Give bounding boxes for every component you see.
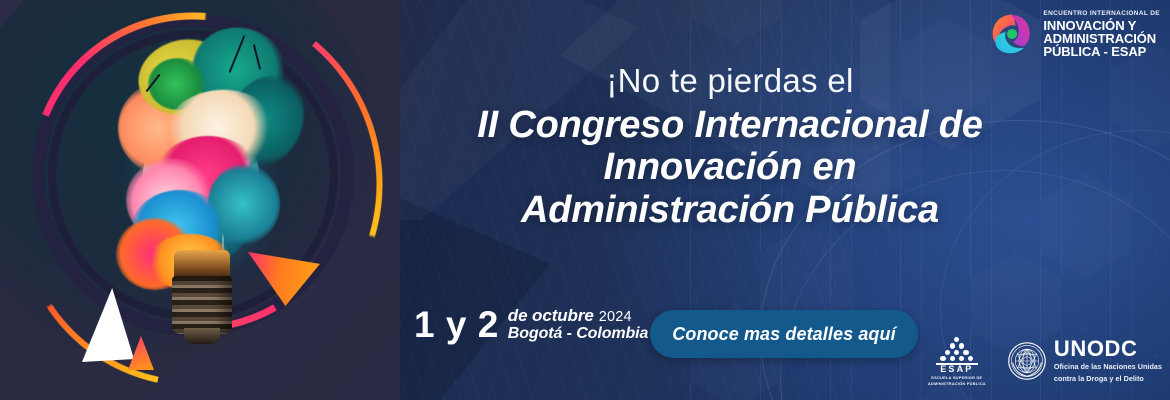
esap-subtitle: ESCUELA SUPERIOR DE ADMINISTRACIÓN PÚBLI… [926, 375, 988, 386]
unodc-text: UNODC Oficina de las Naciones Unidas con… [1054, 338, 1162, 384]
lightbulb-icon [108, 28, 298, 358]
event-month-year-row: de octubre 2024 [508, 306, 649, 325]
headline-kicker: ¡No te pierdas el [380, 62, 1080, 101]
esap-wordmark: ESAP [940, 364, 973, 374]
lightbulb-artwork [0, 0, 400, 400]
headline-line-3: Administración Pública [380, 189, 1080, 232]
headline-line-2: Innovación en [380, 146, 1080, 189]
event-year: 2024 [599, 309, 632, 325]
event-date-block: 1 y 2 de octubre 2024 Bogotá - Colombia [414, 306, 648, 343]
event-logo-text: ENCUENTRO INTERNACIONAL DE INNOVACIÓN Y … [1043, 10, 1160, 59]
esap-dot [963, 350, 968, 355]
esap-dot [959, 343, 964, 348]
unodc-subtitle-line-2: contra la Droga y el Delito [1054, 374, 1162, 384]
event-month: de octubre [508, 306, 594, 325]
details-cta-button[interactable]: Conoce mas detalles aquí [650, 310, 918, 358]
event-logo-line-3: PÚBLICA - ESAP [1043, 45, 1160, 58]
esap-dot [954, 350, 959, 355]
esap-dot [940, 356, 945, 361]
event-logo-line-2: ADMINISTRACIÓN [1043, 32, 1160, 45]
event-logo-kicker: ENCUENTRO INTERNACIONAL DE [1043, 10, 1160, 18]
esap-dot [954, 337, 959, 342]
congress-promo-banner: ENCUENTRO INTERNACIONAL DE INNOVACIÓN Y … [0, 0, 1170, 400]
event-logo-line-1: INNOVACIÓN Y [1043, 19, 1160, 32]
event-days: 1 y 2 [414, 306, 499, 343]
event-location: Bogotá - Colombia [508, 325, 649, 343]
event-date-details: de octubre 2024 Bogotá - Colombia [508, 306, 649, 343]
unodc-subtitle-line-1: Oficina de las Naciones Unidas [1054, 362, 1162, 372]
bulb-tip [184, 328, 220, 344]
headline-block: ¡No te pierdas el II Congreso Internacio… [380, 62, 1080, 232]
swirl-logo-icon [989, 11, 1035, 57]
esap-dot [959, 356, 964, 361]
esap-dot [950, 343, 955, 348]
event-logo: ENCUENTRO INTERNACIONAL DE INNOVACIÓN Y … [989, 10, 1160, 59]
esap-logo: ESAP ESCUELA SUPERIOR DE ADMINISTRACIÓN … [926, 337, 988, 386]
esap-base-line [936, 363, 978, 365]
esap-dot [950, 356, 955, 361]
unodc-logo: UNODC Oficina de las Naciones Unidas con… [1008, 338, 1162, 384]
esap-pyramid-dots-icon [934, 337, 980, 363]
united-nations-emblem-icon [1008, 342, 1046, 380]
esap-dot [968, 356, 973, 361]
bulb-screw-base [172, 276, 232, 334]
esap-dot [945, 350, 950, 355]
partner-logos: ESAP ESCUELA SUPERIOR DE ADMINISTRACIÓN … [926, 337, 1162, 386]
headline-line-1: II Congreso Internacional de [380, 104, 1080, 147]
unodc-wordmark: UNODC [1054, 338, 1162, 360]
